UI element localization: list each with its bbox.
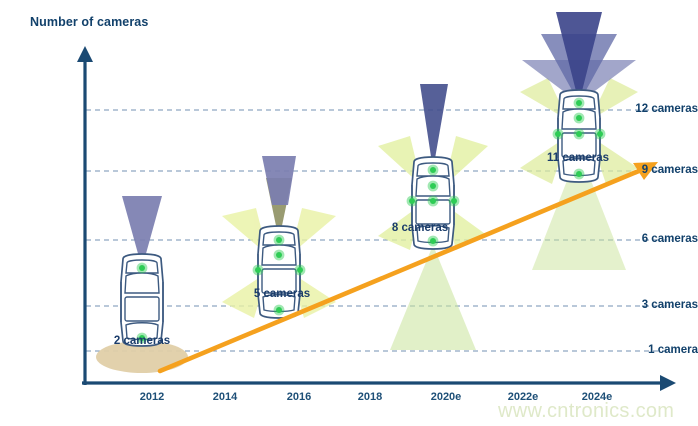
x-tick-2014: 2014 <box>213 391 237 403</box>
camera-dot-left-2016 <box>253 265 264 276</box>
y-axis-title: Number of cameras <box>30 15 148 29</box>
camera-dot-left-2020 <box>407 196 418 207</box>
camera-dot-right-2020 <box>449 196 460 207</box>
camera-dot-front-2016 <box>274 235 285 246</box>
chart-root: Number of cameras 12 cameras 9 cameras 6… <box>0 0 698 426</box>
car-label-2024e: 11 cameras <box>547 152 609 164</box>
car-group-2024 <box>520 12 638 270</box>
camera-dot-mirror-2016 <box>274 250 285 261</box>
x-tick-2016: 2016 <box>287 391 311 403</box>
x-tick-2020e: 2020e <box>431 391 462 403</box>
x-tick-2018: 2018 <box>358 391 382 403</box>
y-tick-6: 6 cameras <box>620 233 698 245</box>
chart-graphics <box>0 0 698 426</box>
x-tick-2012: 2012 <box>140 391 164 403</box>
x-axis-arrowhead <box>660 375 676 391</box>
camera-dot-center-2024 <box>574 129 585 140</box>
car-label-2016: 5 cameras <box>254 288 310 300</box>
camera-dot-front-2020 <box>428 165 439 176</box>
y-tick-1: 1 camera <box>620 344 698 356</box>
car-label-2012: 2 cameras <box>114 335 170 347</box>
camera-dot-rear-2020 <box>428 236 439 247</box>
camera-dot-windshield-2024 <box>574 113 585 124</box>
y-tick-12: 12 cameras <box>620 103 698 115</box>
y-tick-9: 9 cameras <box>620 164 698 176</box>
watermark: www.cntronics.com <box>498 400 674 423</box>
car-label-2020e: 8 cameras <box>392 222 448 234</box>
camera-dot-rear-2024 <box>574 169 585 180</box>
y-axis-arrowhead <box>77 46 93 62</box>
camera-dot-center-2020 <box>428 196 439 207</box>
camera-dot-rear-2016 <box>274 305 285 316</box>
camera-dot-left-2024 <box>553 129 564 140</box>
camera-dot-front-2024 <box>574 98 585 109</box>
rear-cone-2020 <box>390 245 476 350</box>
y-tick-3: 3 cameras <box>620 299 698 311</box>
car-group-2020 <box>378 84 488 350</box>
camera-dot-right-2016 <box>295 265 306 276</box>
camera-dot-right-2024 <box>595 129 606 140</box>
camera-dot-front-2012 <box>137 263 148 274</box>
camera-dot-windshield-2020 <box>428 181 439 192</box>
front-cone-upper-2016 <box>262 156 296 205</box>
